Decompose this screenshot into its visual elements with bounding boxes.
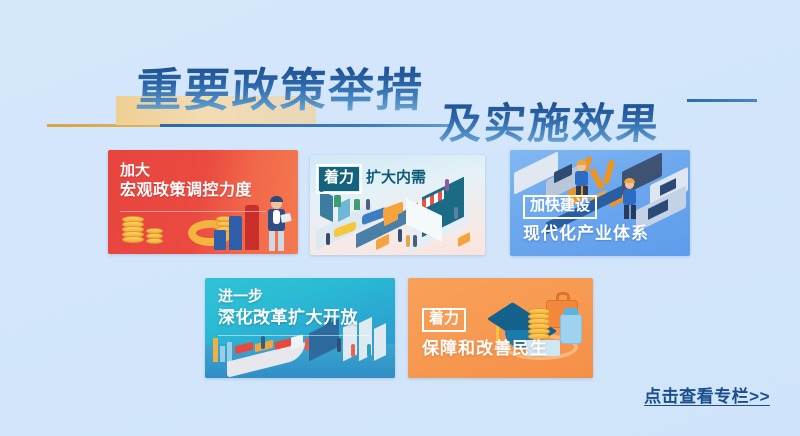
- delivery-box-icon: [458, 232, 470, 247]
- card-label-macro-policy: 加大 宏观政策调控力度: [120, 162, 252, 201]
- billboard-icon: [320, 190, 333, 222]
- people-icon: [445, 179, 449, 191]
- people-icon: [366, 199, 370, 210]
- view-column-link[interactable]: 点击查看专栏>>: [644, 382, 770, 407]
- people-icon: [337, 338, 341, 352]
- businessman-icon: [264, 198, 290, 254]
- people-icon: [351, 344, 355, 357]
- people-icon: [454, 207, 458, 219]
- bottle-cap-icon: [564, 308, 578, 315]
- building-icon: [374, 323, 386, 361]
- page-title: 重要政策举措: [135, 64, 426, 116]
- card-label-livelihood: 着力 保障和改善民生: [422, 308, 548, 359]
- page-subtitle: 及实施效果: [438, 100, 662, 148]
- blue-rule-right: [687, 99, 757, 102]
- people-icon: [305, 338, 309, 351]
- card3-line2: 现代化产业体系: [523, 223, 649, 244]
- card-modern-industry[interactable]: 加快建设 现代化产业体系: [510, 150, 690, 256]
- card2-line2: 扩大内需: [359, 169, 426, 186]
- card4-line2: 深化改革扩大开放: [218, 307, 358, 328]
- card-reform-opening[interactable]: 进一步 深化改革扩大开放: [205, 278, 395, 378]
- card5-line1: 着力: [422, 308, 466, 332]
- bar-chart-icon: [213, 338, 218, 362]
- card4-underline-2: [218, 335, 370, 336]
- card2-line1: 着力: [319, 167, 359, 191]
- card1-underline: [120, 211, 266, 212]
- card4-underline-1: [218, 311, 286, 312]
- card-macro-policy[interactable]: 加大 宏观政策调控力度: [108, 150, 298, 254]
- tree-icon: [334, 195, 341, 207]
- card3-line1: 加快建设: [523, 195, 597, 219]
- card5-line2: 保障和改善民生: [422, 338, 548, 359]
- card4-line1: 进一步: [218, 288, 358, 307]
- card1-line1: 加大: [120, 162, 252, 181]
- tree-icon: [354, 199, 360, 210]
- robot-arm-icon: [603, 160, 615, 185]
- worker-icon: [572, 162, 592, 196]
- bar-chart-icon: [227, 342, 232, 362]
- card1-line2: 宏观政策调控力度: [120, 181, 252, 201]
- people-icon: [398, 229, 402, 242]
- banner-root: 重要政策举措 及实施效果: [0, 0, 800, 436]
- card-livelihood[interactable]: 着力 保障和改善民生: [408, 278, 593, 378]
- people-icon: [413, 235, 417, 247]
- card-label-reform-opening: 进一步 深化改革扩大开放: [218, 288, 358, 328]
- card-expand-demand[interactable]: 着力扩大内需: [310, 155, 485, 255]
- people-icon: [367, 344, 371, 357]
- people-icon: [261, 336, 265, 349]
- bar-chart-icon: [220, 346, 225, 362]
- people-icon: [326, 233, 330, 245]
- card-label-expand-demand: 着力扩大内需: [319, 167, 426, 191]
- suitcase-handle-icon: [556, 292, 570, 301]
- card-label-modern-industry: 加快建设 现代化产业体系: [523, 195, 649, 244]
- medicine-bottle-icon: [560, 314, 582, 344]
- bar-chart-icon: [214, 230, 226, 250]
- title-block: 重要政策举措 及实施效果: [0, 28, 800, 128]
- bar-chart-icon: [229, 216, 242, 250]
- people-icon: [406, 235, 410, 247]
- blue-rule-left: [160, 124, 450, 127]
